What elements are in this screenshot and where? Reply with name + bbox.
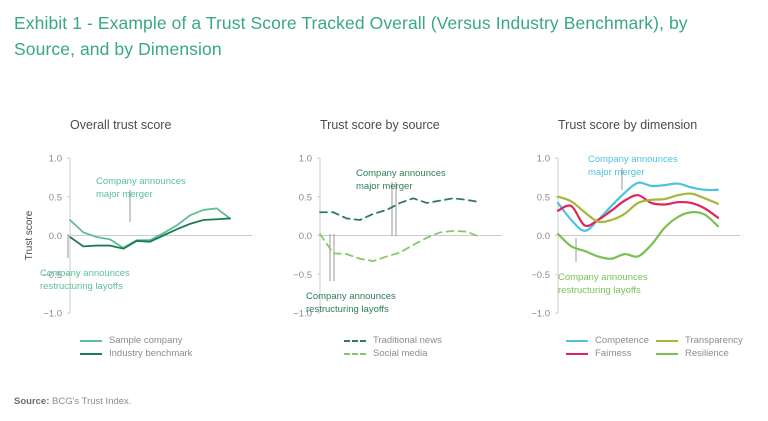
legend-swatch-dashed-icon — [344, 340, 366, 342]
legend-label: Sample company — [109, 335, 182, 346]
y-tick-label: 0.5 — [537, 192, 550, 203]
y-tick-label: −0.5 — [293, 270, 312, 281]
legend-label: Competence — [595, 335, 649, 346]
legend-item-traditional-news: Traditional news — [344, 335, 442, 346]
annotation-text: Company announces — [96, 176, 186, 187]
y-tick-label: 0.0 — [299, 231, 312, 242]
series-line-industry-benchmark — [70, 218, 230, 248]
y-tick-label: 0.0 — [49, 231, 62, 242]
legend-label: Resilience — [685, 348, 729, 359]
annotation-text: restructuring layoffs — [558, 285, 641, 296]
y-tick-label: 1.0 — [299, 154, 312, 165]
legend-swatch-line-icon — [566, 340, 588, 342]
legend-label: Social media — [373, 348, 427, 359]
y-tick-label: −1.0 — [531, 309, 550, 320]
legend-item-sample-company: Sample company — [80, 335, 182, 346]
y-tick-label: −1.0 — [43, 309, 62, 320]
source-value: BCG's Trust Index. — [49, 396, 131, 407]
chart-plot-by-dimension: 1.00.50.0−0.5−1.0Company announcesmajor … — [518, 146, 768, 331]
y-tick-label: 1.0 — [49, 154, 62, 165]
legend-label: Fairness — [595, 348, 631, 359]
legend-swatch-line-icon — [656, 353, 678, 355]
annotation-text: Company announces — [356, 168, 446, 179]
chart-title-by-dimension: Trust score by dimension — [558, 118, 697, 132]
annotation-text: Company announces — [306, 291, 396, 302]
chart-plot-overall: 1.00.50.0−0.5−1.0Trust scoreCompany anno… — [18, 146, 268, 331]
legend-swatch-line-icon — [656, 340, 678, 342]
chart-panel-overall: Overall trust score 1.00.50.0−0.5−1.0Tru… — [18, 112, 268, 362]
series-line-transparency — [558, 194, 718, 223]
annotation-text: Company announces — [588, 154, 678, 165]
y-tick-label: 1.0 — [537, 154, 550, 165]
chart-panel-by-source: Trust score by source 1.00.50.0−0.5−1.0C… — [268, 112, 518, 362]
legend-swatch-line-icon — [566, 353, 588, 355]
annotation-text: major merger — [356, 181, 413, 192]
chart-plot-by-source: 1.00.50.0−0.5−1.0Company announcesmajor … — [268, 146, 518, 331]
annotation-text: Company announces — [558, 272, 648, 283]
legend-item-social-media: Social media — [344, 348, 427, 359]
legend-swatch-dashed-icon — [344, 353, 366, 355]
legend-item-competence: Competence — [566, 335, 656, 346]
annotation-text: Company announces — [40, 268, 130, 279]
annotation-text: major merger — [96, 189, 153, 200]
annotation-text: restructuring layoffs — [306, 304, 389, 315]
chart-panel-by-dimension: Trust score by dimension 1.00.50.0−0.5−1… — [518, 112, 768, 362]
legend-item-fairness: Fairness — [566, 348, 656, 359]
y-axis-label: Trust score — [24, 210, 35, 260]
page-title: Exhibit 1 - Example of a Trust Score Tra… — [14, 10, 734, 62]
legend-label: Transparency — [685, 335, 743, 346]
series-line-traditional-news — [320, 198, 480, 220]
source-note: Source: BCG's Trust Index. — [14, 396, 131, 407]
legend-swatch-line-icon — [80, 340, 102, 342]
y-tick-label: 0.5 — [49, 192, 62, 203]
chart-title-by-source: Trust score by source — [320, 118, 440, 132]
legend-label: Traditional news — [373, 335, 442, 346]
legend-swatch-line-icon — [80, 353, 102, 355]
legend-item-transparency: Transparency — [656, 335, 743, 346]
legend-item-industry-benchmark: Industry benchmark — [80, 348, 192, 359]
chart-legend-by-dimension: Competence Transparency Fairness Resilie… — [566, 334, 768, 360]
annotation-text: restructuring layoffs — [40, 281, 123, 292]
source-label: Source: — [14, 396, 49, 407]
chart-title-overall: Overall trust score — [70, 118, 171, 132]
y-tick-label: 0.5 — [299, 192, 312, 203]
legend-item-resilience: Resilience — [656, 348, 729, 359]
legend-label: Industry benchmark — [109, 348, 192, 359]
annotation-text: major merger — [588, 167, 645, 178]
y-tick-label: 0.0 — [537, 231, 550, 242]
y-tick-label: −0.5 — [531, 270, 550, 281]
